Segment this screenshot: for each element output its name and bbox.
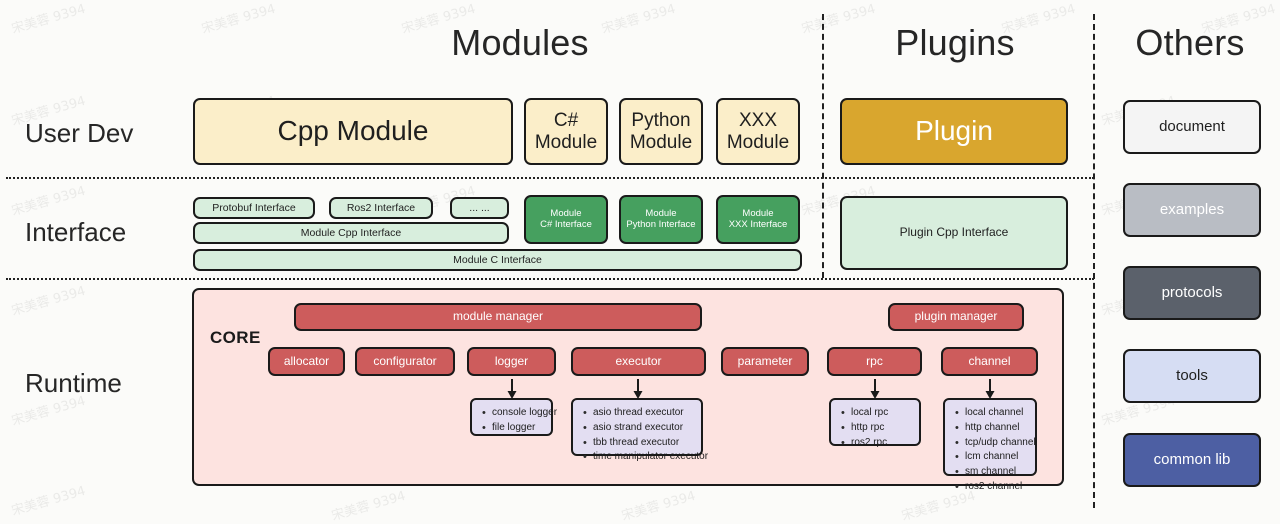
column-title-modules: Modules [290, 22, 750, 64]
list-item: time manipulator executor [593, 450, 695, 465]
module-cpp[interactable]: Cpp Module [193, 98, 513, 165]
watermark: 宋美蓉 9394 [619, 485, 698, 524]
list-item: local rpc [851, 406, 913, 421]
arrow-down-icon [868, 378, 882, 400]
arrow-down-icon [983, 378, 997, 400]
list-item: asio strand executor [593, 421, 695, 436]
watermark: 宋美蓉 9394 [329, 485, 408, 524]
row-label-user-dev: User Dev [25, 118, 133, 149]
others-tools[interactable]: tools [1123, 349, 1261, 403]
interface-module-python[interactable]: Module Python Interface [619, 195, 703, 244]
watermark: 宋美蓉 9394 [199, 0, 278, 37]
watermark: 宋美蓉 9394 [9, 280, 88, 319]
component-parameter[interactable]: parameter [721, 347, 809, 376]
list-item: file logger [492, 421, 545, 436]
component-rpc[interactable]: rpc [827, 347, 922, 376]
interface-module-csharp[interactable]: Module C# Interface [524, 195, 608, 244]
executor-options-list: asio thread executor asio strand executo… [571, 398, 703, 456]
interface-plugin-cpp[interactable]: Plugin Cpp Interface [840, 196, 1068, 270]
module-python[interactable]: Python Module [619, 98, 703, 165]
list-item: lcm channel [965, 450, 1029, 465]
watermark: 宋美蓉 9394 [9, 0, 88, 37]
others-document[interactable]: document [1123, 100, 1261, 154]
list-item: tcp/udp channel [965, 436, 1029, 451]
interface-more[interactable]: ... ... [450, 197, 509, 219]
arrow-down-icon [505, 378, 519, 400]
interface-module-cpp[interactable]: Module Cpp Interface [193, 222, 509, 244]
plugin-box[interactable]: Plugin [840, 98, 1068, 165]
interface-module-c[interactable]: Module C Interface [193, 249, 802, 271]
list-item: ros2 channel [965, 480, 1029, 495]
module-xxx[interactable]: XXX Module [716, 98, 800, 165]
divider-interface-runtime [6, 278, 1094, 280]
component-allocator[interactable]: allocator [268, 347, 345, 376]
module-manager[interactable]: module manager [294, 303, 702, 331]
list-item: ros2 rpc [851, 436, 913, 451]
interface-protobuf[interactable]: Protobuf Interface [193, 197, 315, 219]
list-item: tbb thread executor [593, 436, 695, 451]
others-common-lib[interactable]: common lib [1123, 433, 1261, 487]
component-configurator[interactable]: configurator [355, 347, 455, 376]
rpc-options-list: local rpc http rpc ros2 rpc [829, 398, 921, 446]
arrow-down-icon [631, 378, 645, 400]
module-csharp[interactable]: C# Module [524, 98, 608, 165]
core-label: CORE [210, 328, 261, 348]
column-title-plugins: Plugins [830, 22, 1080, 64]
logger-options-list: console logger file logger [470, 398, 553, 436]
component-logger[interactable]: logger [467, 347, 556, 376]
others-examples[interactable]: examples [1123, 183, 1261, 237]
divider-plugins-others [1093, 14, 1095, 508]
plugin-manager[interactable]: plugin manager [888, 303, 1024, 331]
divider-modules-plugins [822, 14, 824, 278]
row-label-runtime: Runtime [25, 368, 122, 399]
divider-user-dev-interface [6, 177, 1094, 179]
others-protocols[interactable]: protocols [1123, 266, 1261, 320]
component-executor[interactable]: executor [571, 347, 706, 376]
interface-module-xxx[interactable]: Module XXX Interface [716, 195, 800, 244]
list-item: http rpc [851, 421, 913, 436]
column-title-others: Others [1105, 22, 1275, 64]
list-item: local channel [965, 406, 1029, 421]
row-label-interface: Interface [25, 217, 126, 248]
watermark: 宋美蓉 9394 [9, 180, 88, 219]
list-item: sm channel [965, 465, 1029, 480]
watermark: 宋美蓉 9394 [9, 480, 88, 519]
list-item: http channel [965, 421, 1029, 436]
interface-ros2[interactable]: Ros2 Interface [329, 197, 433, 219]
component-channel[interactable]: channel [941, 347, 1038, 376]
diagram-canvas: 宋美蓉 9394 宋美蓉 9394 宋美蓉 9394 宋美蓉 9394 宋美蓉 … [0, 0, 1280, 519]
channel-options-list: local channel http channel tcp/udp chann… [943, 398, 1037, 476]
list-item: console logger [492, 406, 545, 421]
list-item: asio thread executor [593, 406, 695, 421]
